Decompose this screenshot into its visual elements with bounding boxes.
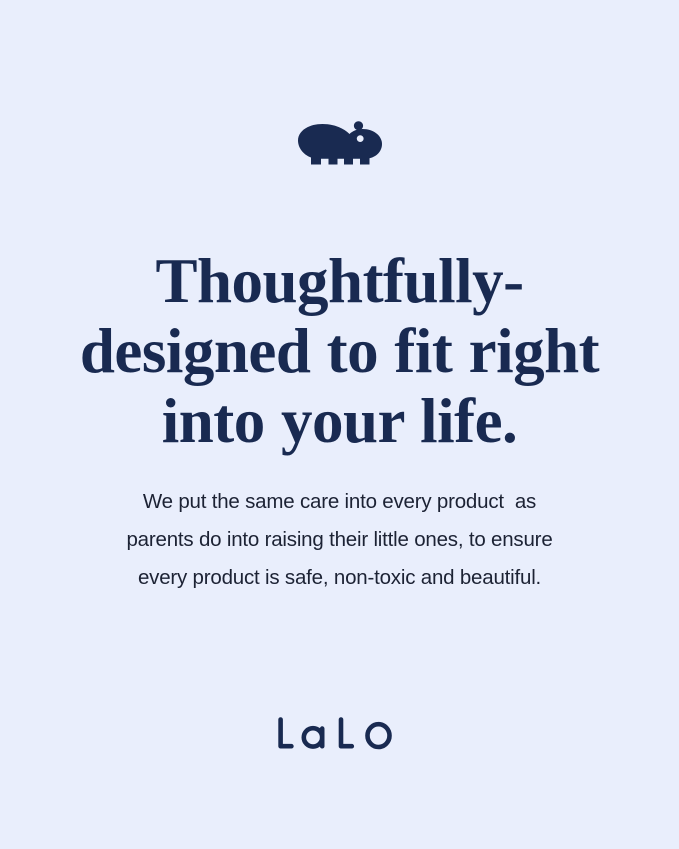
body-line-1: We put the same care into every product … — [70, 483, 610, 521]
hippo-icon-label: Lalo hippo mark — [294, 170, 295, 171]
marketing-poster: Lalo hippo mark Thoughtfully- designed t… — [0, 0, 679, 849]
body-paragraph: We put the same care into every product … — [70, 483, 610, 597]
page-title: Thoughtfully- designed to fit right into… — [60, 246, 620, 457]
headline-line-1: Thoughtfully- — [60, 246, 620, 316]
lalo-wordmark: LALO — [275, 713, 405, 753]
body-line-2: parents do into raising their little one… — [70, 521, 610, 559]
lalo-wordmark-label: LALO — [275, 753, 276, 754]
headline-line-3: into your life. — [60, 386, 620, 456]
body-line-3: every product is safe, non-toxic and bea… — [70, 559, 610, 597]
headline-line-2: designed to fit right — [60, 316, 620, 386]
hippo-icon: Lalo hippo mark — [294, 118, 386, 170]
